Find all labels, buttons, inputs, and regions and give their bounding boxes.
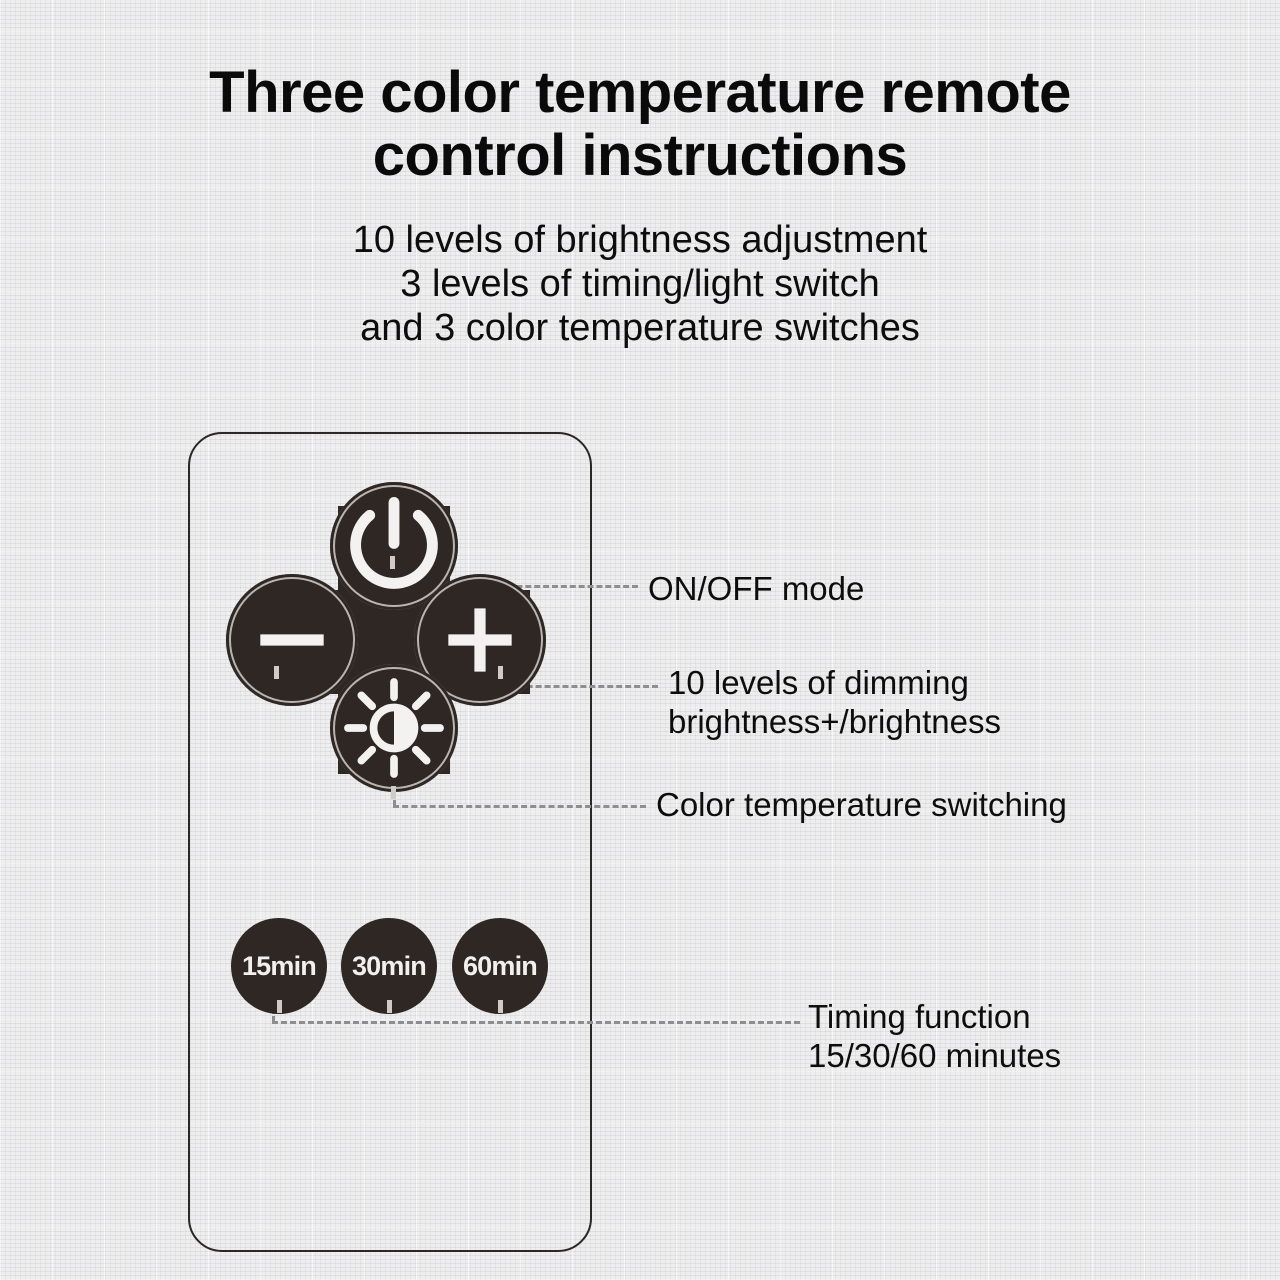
color-temperature-button[interactable] (330, 664, 458, 792)
instruction-graphic: Three color temperature remote control i… (0, 0, 1280, 1280)
leader-line-color-temp (393, 805, 646, 808)
plus-button-notch (498, 666, 503, 679)
leader-line-timing (272, 1021, 800, 1024)
dpad-control-cluster (226, 482, 546, 798)
timer-60min-notch (498, 1000, 503, 1013)
power-button-notch (390, 556, 395, 569)
timer-15min-notch (277, 1000, 282, 1013)
timer-30min-notch (387, 1000, 392, 1013)
page-title: Three color temperature remote control i… (0, 62, 1280, 187)
brightness-sun-icon (330, 664, 458, 792)
color-temp-button-notch (391, 786, 396, 799)
annotation-color-temperature: Color temperature switching (656, 786, 1067, 825)
annotation-onoff-mode: ON/OFF mode (648, 570, 864, 609)
minus-button-notch (274, 666, 279, 679)
page-subtitle: 10 levels of brightness adjustment 3 lev… (0, 218, 1280, 350)
annotation-dimming-levels: 10 levels of dimming brightness+/brightn… (668, 664, 1001, 742)
annotation-timing-function: Timing function 15/30/60 minutes (808, 998, 1061, 1076)
